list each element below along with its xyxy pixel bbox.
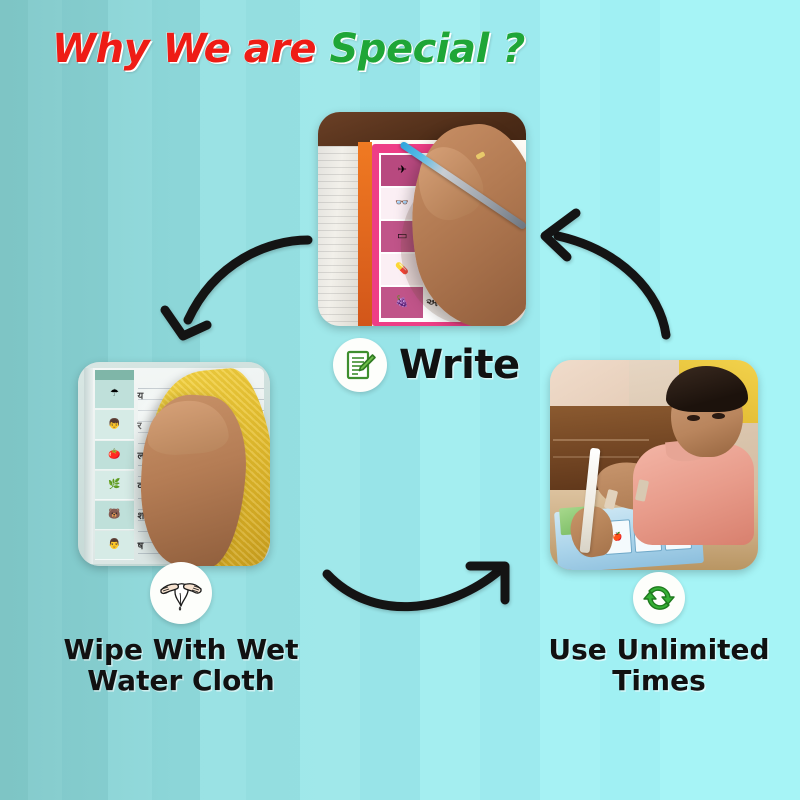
picture-cell: 🐻	[95, 501, 133, 530]
picture-glyph: 👦	[108, 420, 120, 430]
picture-cell: 🌿	[95, 471, 133, 500]
picture-cell: 🍅	[95, 441, 133, 470]
photo-write[interactable]: ✈ 👓 ▭ 💊 🍇 એ ઐ ઓ ઔ અં એ એ એ ઓ ઓ ઓ ઔ ઔ ઔ અ…	[318, 112, 526, 326]
arrow-wipe-to-use-head	[470, 566, 505, 600]
picture-column: ☂ 👦 🍅 🌿 🐻 👨	[95, 380, 133, 560]
step-wipe[interactable]: Wipe With Wet Water Cloth	[36, 562, 326, 697]
arrow-write-to-wipe-head	[165, 310, 207, 336]
document-pencil-icon-badge	[333, 338, 387, 392]
page-title: Why We are Special ?	[52, 26, 525, 72]
arrow-write-to-wipe	[165, 240, 308, 336]
step-use-label-line2: Times	[548, 665, 769, 696]
infographic-canvas: Why We are Special ? ✈ 👓 ▭ 💊 🍇 એ ઐ ઓ	[0, 0, 800, 800]
step-use-label: Use Unlimited Times	[548, 634, 769, 697]
picture-glyph: 🍅	[108, 450, 120, 460]
picture-glyph: ✈	[398, 165, 407, 176]
book-orange-edge	[358, 142, 373, 326]
step-use-label-line1: Use Unlimited	[548, 634, 769, 665]
step-use-unlimited-times[interactable]: Use Unlimited Times	[530, 572, 788, 697]
arrow-use-to-write	[545, 213, 666, 335]
boy-eye-right	[712, 413, 724, 419]
step-wipe-label-line2: Water Cloth	[63, 665, 298, 696]
document-pencil-icon	[343, 348, 377, 382]
column-header-bar	[95, 370, 133, 380]
recycle-arrows-icon-badge	[633, 572, 685, 624]
picture-glyph: 🍇	[395, 297, 409, 308]
picture-glyph: 🌿	[108, 480, 120, 490]
picture-cell: 👦	[95, 410, 133, 439]
photo-wipe-content: ☂ 👦 🍅 🌿 🐻 👨 य र ल व श ष	[78, 362, 270, 566]
step-write[interactable]: Write	[333, 338, 520, 392]
arrow-wipe-to-use-shaft	[327, 570, 500, 607]
hands-wiping-cloth-icon	[159, 573, 203, 613]
page-title-green-part: Special ?	[330, 26, 525, 72]
photo-wipe[interactable]: ☂ 👦 🍅 🌿 🐻 👨 य र ल व श ष	[78, 362, 270, 566]
step-wipe-label: Wipe With Wet Water Cloth	[63, 634, 298, 697]
photo-write-content: ✈ 👓 ▭ 💊 🍇 એ ઐ ઓ ઔ અં એ એ એ ઓ ઓ ઓ ઔ ઔ ઔ અ…	[318, 112, 526, 326]
picture-glyph: ☂	[110, 389, 119, 399]
headboard-groove	[553, 439, 648, 441]
picture-glyph: 👨	[108, 540, 120, 550]
step-write-label: Write	[399, 343, 520, 388]
recycle-arrows-icon	[641, 580, 677, 616]
picture-cell: ☂	[95, 380, 133, 409]
photo-use-unlimited-times[interactable]: 🍎 ⚽ ⬜	[550, 360, 758, 570]
arrow-use-to-write-head	[545, 213, 576, 257]
hands-wiping-cloth-icon-badge	[150, 562, 212, 624]
arrow-write-to-wipe-shaft	[188, 240, 308, 320]
picture-glyph: 👓	[395, 198, 409, 209]
photo-use-content: 🍎 ⚽ ⬜	[550, 360, 758, 570]
arrow-use-to-write-shaft	[558, 236, 666, 335]
boy-eye-left	[687, 415, 699, 421]
page-title-red-part: Why We are	[52, 26, 330, 72]
step-wipe-label-line1: Wipe With Wet	[63, 634, 298, 665]
picture-glyph: 🐻	[108, 510, 120, 520]
book-spine	[84, 368, 94, 564]
arrow-wipe-to-use	[327, 566, 505, 607]
picture-cell: 👨	[95, 531, 133, 560]
